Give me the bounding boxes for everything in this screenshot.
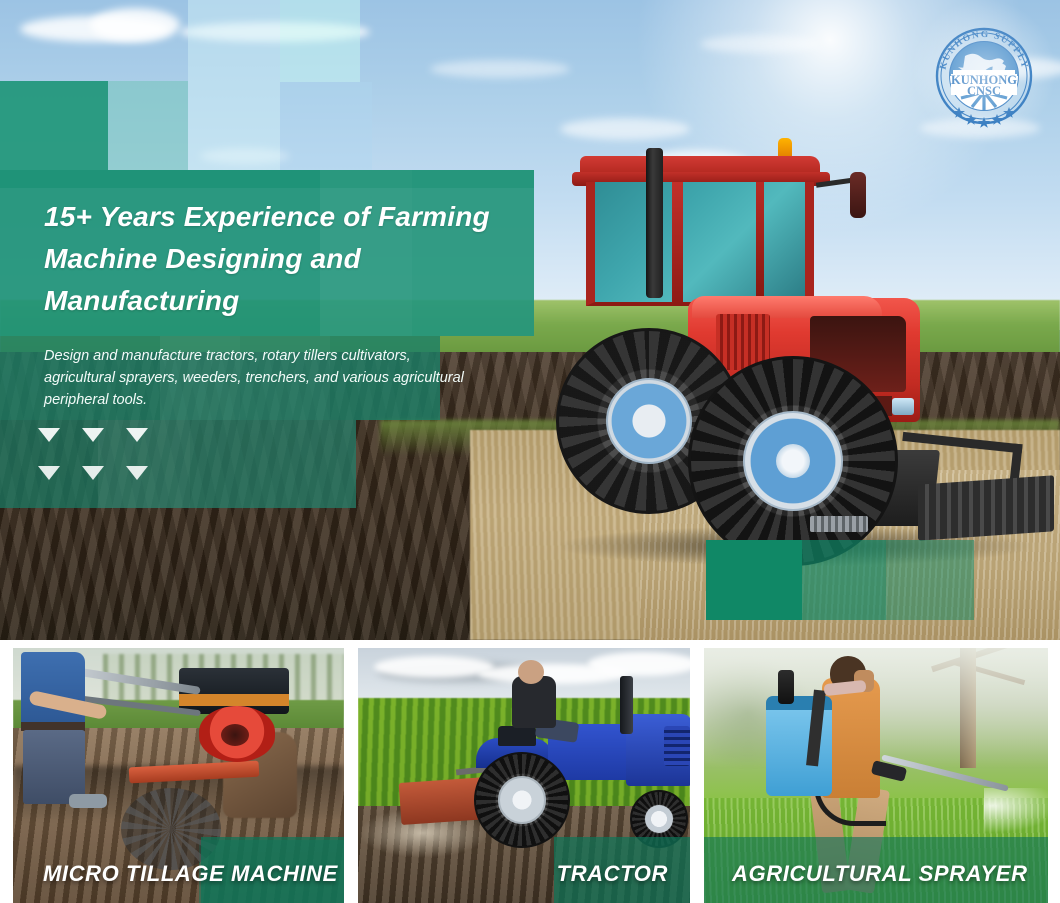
mosaic-block <box>188 0 280 170</box>
logo-glow <box>909 0 1059 146</box>
tractor-cab-post <box>756 182 764 306</box>
headlight-icon <box>892 398 914 415</box>
green-accent-block <box>706 540 802 620</box>
tractor-grille <box>664 726 690 766</box>
tractor-front-hub <box>776 444 810 478</box>
triangle-down-icon <box>82 466 104 480</box>
cloud-shape <box>588 652 690 676</box>
triangle-down-icon <box>82 428 104 442</box>
cloud-shape <box>430 60 570 78</box>
product-card-row: MICRO TILLAGE MACHINE <box>0 648 1060 903</box>
tractor-cab <box>586 182 814 306</box>
cloud-shape <box>90 8 180 42</box>
hero-headline: 15+ Years Experience of Farming Machine … <box>44 196 514 322</box>
product-card-agricultural-sprayer[interactable]: AGRICULTURAL SPRAYER <box>704 648 1048 903</box>
triangle-down-icon <box>38 466 60 480</box>
operator-shirt <box>21 652 85 726</box>
tractor-exhaust-pipe <box>646 148 663 298</box>
tractor-front-rim <box>645 805 673 833</box>
tractor-seat <box>498 726 536 746</box>
triangle-down-icon <box>126 466 148 480</box>
company-logo: KUNHONG CNSC CHINA KUNHONG SUPPLY CHAIN <box>925 12 1043 140</box>
red-tractor-image <box>520 120 1060 540</box>
triangle-down-icon <box>38 428 60 442</box>
product-banner: 15+ Years Experience of Farming Machine … <box>0 0 1060 903</box>
triangle-decoration-group <box>38 428 168 498</box>
decor-panel-tint <box>190 420 356 508</box>
operator-boot <box>69 794 107 808</box>
tiller-flywheel-hub <box>221 724 249 746</box>
product-card-tractor[interactable]: TRACTOR <box>358 648 690 903</box>
mosaic-block <box>108 81 188 170</box>
triangle-down-icon <box>126 428 148 442</box>
tractor-rear-rim <box>498 776 546 824</box>
card-label: TRACTOR <box>557 861 668 887</box>
tiller-engine-band <box>179 694 289 706</box>
card-label: MICRO TILLAGE MACHINE <box>43 861 338 887</box>
rider-torso <box>512 676 556 728</box>
mosaic-block <box>0 81 108 170</box>
card-label: AGRICULTURAL SPRAYER <box>732 861 1028 887</box>
hero-subtext: Design and manufacture tractors, rotary … <box>44 345 464 411</box>
mosaic-block <box>280 82 372 170</box>
hero-section: 15+ Years Experience of Farming Machine … <box>0 0 1060 640</box>
tractor-rear-rim <box>606 378 692 464</box>
mosaic-block <box>280 0 360 82</box>
tractor-mirror <box>850 172 866 218</box>
spray-mist <box>984 788 1048 832</box>
green-accent-block <box>886 540 974 620</box>
rider-head <box>518 660 544 684</box>
tractor-exhaust-pipe <box>620 676 633 734</box>
product-card-micro-tillage-machine[interactable]: MICRO TILLAGE MACHINE <box>13 648 344 903</box>
front-implement <box>918 475 1054 541</box>
card-operator-figure <box>19 652 97 802</box>
cloud-shape <box>374 656 494 678</box>
operator-legs <box>23 730 85 804</box>
sprayer-pump-handle <box>778 670 794 704</box>
cloud-shape <box>700 35 820 53</box>
tractor-cab-post <box>672 182 683 306</box>
tractor-step <box>810 516 868 532</box>
green-accent-block <box>802 540 886 620</box>
